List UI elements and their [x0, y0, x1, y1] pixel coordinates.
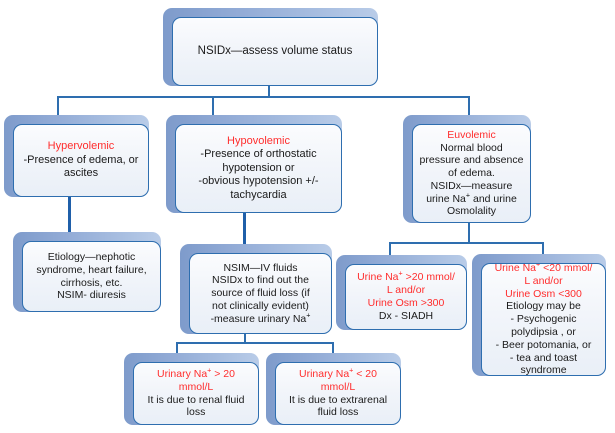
flowchart-canvas: NSIDx—assess volume status Hypervolemic … — [0, 0, 615, 433]
connector-to-euvolemic — [468, 96, 470, 117]
node-text: Hypervolemic -Presence of edema, or asci… — [14, 139, 148, 181]
connector-hypovolemic-to-nsim — [243, 212, 246, 246]
node-hypervolemic[interactable]: Hypervolemic -Presence of edema, or asci… — [4, 115, 149, 197]
node-text: Urinary Na+ > 20 mmol/L It is due to ren… — [134, 367, 258, 420]
connector-nsim-bus — [176, 342, 334, 344]
node-card: Urinary Na+ < 20 mmol/L It is due to ext… — [275, 362, 401, 425]
node-urinary-na-low[interactable]: Urinary Na+ < 20 mmol/L It is due to ext… — [266, 353, 401, 425]
connector-to-hypervolemic — [57, 96, 59, 117]
node-heading: Urinary Na+ > 20 — [137, 368, 255, 381]
node-card: Etiology—nephotic syndrome, heart failur… — [22, 241, 161, 312]
node-text: Urinary Na+ < 20 mmol/L It is due to ext… — [276, 367, 400, 420]
node-heading: Hypovolemic — [179, 135, 338, 148]
node-polydipsia-etiologies[interactable]: Urine Na+ <20 mmol/ L and/or Urine Osm <… — [472, 254, 606, 376]
node-heading: Hypervolemic — [17, 140, 145, 153]
connector-main-bus — [57, 96, 470, 98]
node-card: Urinary Na+ > 20 mmol/L It is due to ren… — [133, 362, 259, 425]
node-text: NSIM—IV fluids NSIDx to find out the sou… — [190, 261, 331, 327]
node-heading: Urinary Na+ < 20 — [279, 368, 397, 381]
connector-hypervolemic-to-etiology — [68, 196, 71, 234]
node-siadh[interactable]: Urine Na+ >20 mmol/ L and/or Urine Osm >… — [336, 255, 467, 330]
node-card: NSIDx—assess volume status — [172, 17, 378, 86]
node-etiology-nephotic[interactable]: Etiology—nephotic syndrome, heart failur… — [13, 232, 161, 312]
node-euvolemic[interactable]: Euvolemic Normal blood pressure and abse… — [403, 115, 531, 223]
node-hypovolemic[interactable]: Hypovolemic -Presence of orthostatic hyp… — [166, 115, 342, 213]
node-text: Urine Na+ >20 mmol/ L and/or Urine Osm >… — [346, 270, 466, 323]
node-card: Hypovolemic -Presence of orthostatic hyp… — [175, 124, 342, 213]
node-root[interactable]: NSIDx—assess volume status — [163, 8, 378, 86]
node-nsim-iv-fluids[interactable]: NSIM—IV fluids NSIDx to find out the sou… — [180, 244, 332, 334]
node-card: NSIM—IV fluids NSIDx to find out the sou… — [189, 253, 332, 334]
node-heading: Urine Na+ <20 mmol/ — [485, 263, 602, 275]
connector-to-siadh — [389, 242, 391, 256]
node-card: Euvolemic Normal blood pressure and abse… — [412, 124, 531, 223]
node-text: Etiology—nephotic syndrome, heart failur… — [23, 250, 160, 303]
node-card: Hypervolemic -Presence of edema, or asci… — [13, 124, 149, 197]
node-heading: Euvolemic — [416, 129, 527, 142]
connector-euvolemic-stem — [468, 222, 470, 242]
node-text: Euvolemic Normal blood pressure and abse… — [413, 128, 530, 220]
node-card: Urine Na+ <20 mmol/ L and/or Urine Osm <… — [481, 263, 606, 376]
superscript-plus: + — [306, 311, 310, 319]
connector-to-hypovolemic — [212, 96, 214, 117]
node-urinary-na-high[interactable]: Urinary Na+ > 20 mmol/L It is due to ren… — [124, 353, 259, 425]
node-text: Urine Na+ <20 mmol/ L and/or Urine Osm <… — [482, 263, 605, 376]
node-text: Hypovolemic -Presence of orthostatic hyp… — [176, 134, 341, 203]
node-text: NSIDx—assess volume status — [173, 43, 377, 59]
node-heading: Urine Na+ >20 mmol/ — [349, 271, 463, 284]
node-card: Urine Na+ >20 mmol/ L and/or Urine Osm >… — [345, 264, 467, 330]
connector-euvolemic-bus — [389, 242, 544, 244]
